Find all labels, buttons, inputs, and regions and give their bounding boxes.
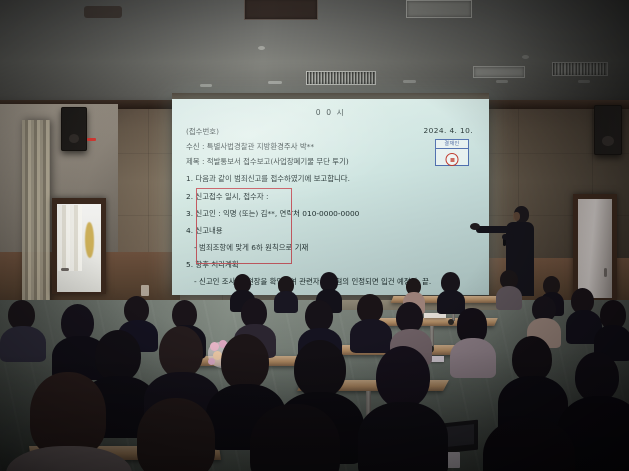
presenter-face: [513, 212, 520, 221]
presenter-arm-mic: [502, 234, 514, 240]
ceiling-light: [200, 84, 212, 87]
seal-icon: [446, 153, 459, 166]
audience-head: [376, 346, 430, 408]
audience-shoulders: [6, 446, 132, 471]
audience-head: [30, 372, 106, 456]
door-handle-icon: [604, 268, 607, 277]
list-item: [128, 398, 224, 471]
list-item: [504, 336, 558, 424]
ceiling-panel-upper-right: [406, 0, 472, 18]
wall-outlet-icon: [141, 285, 149, 296]
list-item: [274, 276, 298, 310]
approval-stamp: 결재인: [435, 139, 469, 166]
slide-line: 1. 다음과 같이 범죄신고를 접수하였기에 보고합니다.: [186, 174, 350, 183]
list-item: [452, 308, 492, 370]
ceiling-vent-far-right: [552, 62, 608, 76]
audience-shoulders: [0, 326, 46, 362]
plant-icon: [85, 222, 94, 258]
audience-head: [575, 352, 619, 402]
presenter-arm-pointing: [476, 226, 512, 233]
slide-date: 2024. 4. 10.: [424, 126, 473, 135]
audience-head: [159, 326, 203, 378]
ceiling-light: [496, 80, 508, 83]
audience-head: [221, 334, 269, 390]
audience-shoulders: [450, 338, 496, 378]
ceiling-light: [84, 6, 122, 18]
audience-shoulders: [358, 402, 448, 471]
list-item: [352, 294, 388, 346]
audience-shoulders: [274, 291, 298, 313]
wall-speaker-left: [61, 107, 87, 151]
door-handle-icon: [61, 268, 69, 271]
list-item: [4, 300, 40, 356]
indicator-light: [87, 138, 96, 141]
ceiling-vent-right: [473, 66, 525, 78]
list-item: [474, 418, 584, 471]
list-item: [240, 404, 350, 471]
list-item: [20, 372, 116, 471]
slide-content: 0 0 시 2024. 4. 10. 결재인 (접수번호) 수신 : 특별사법경…: [172, 99, 489, 295]
name-tag: [446, 452, 460, 468]
audience-head: [137, 398, 215, 471]
slide-title: 0 0 시: [172, 108, 489, 117]
list-item: [368, 346, 436, 464]
window-curtain: [22, 120, 50, 310]
list-item: [437, 272, 465, 310]
list-item: [566, 288, 600, 338]
ceiling-vent-back: [244, 0, 318, 20]
closed-door-right[interactable]: [578, 199, 612, 298]
slide-line: (접수번호): [186, 127, 219, 136]
slide-line: 수신 : 특별사법경찰관 지방환경주사 박**: [186, 142, 314, 151]
audience-head: [250, 404, 340, 471]
lecture-hall-photo: 0 0 시 2024. 4. 10. 결재인 (접수번호) 수신 : 특별사법경…: [0, 0, 629, 471]
list-item: [596, 300, 629, 356]
ceiling-light: [403, 80, 416, 83]
audience-shoulders: [496, 286, 522, 310]
ceiling-light: [268, 81, 282, 84]
projection-screen[interactable]: 0 0 시 2024. 4. 10. 결재인 (접수번호) 수신 : 특별사법경…: [172, 99, 489, 295]
slide-line: 제목 : 적발통보서 접수보고(사업장폐기물 무단 투기): [186, 157, 349, 166]
slide-highlight-box: [196, 188, 292, 264]
wall-speaker-right: [594, 105, 622, 155]
presenter-hand: [470, 223, 480, 230]
approval-stamp-header: 결재인: [436, 140, 468, 149]
doorway-curtain: [58, 205, 82, 271]
air-vent-icon: [306, 71, 376, 85]
audience-head: [483, 418, 575, 471]
audience-head: [294, 340, 346, 398]
list-item: [496, 270, 522, 306]
smoke-detector-icon: [258, 46, 265, 50]
smoke-detector-icon: [522, 55, 529, 59]
ceiling-light: [578, 80, 590, 83]
